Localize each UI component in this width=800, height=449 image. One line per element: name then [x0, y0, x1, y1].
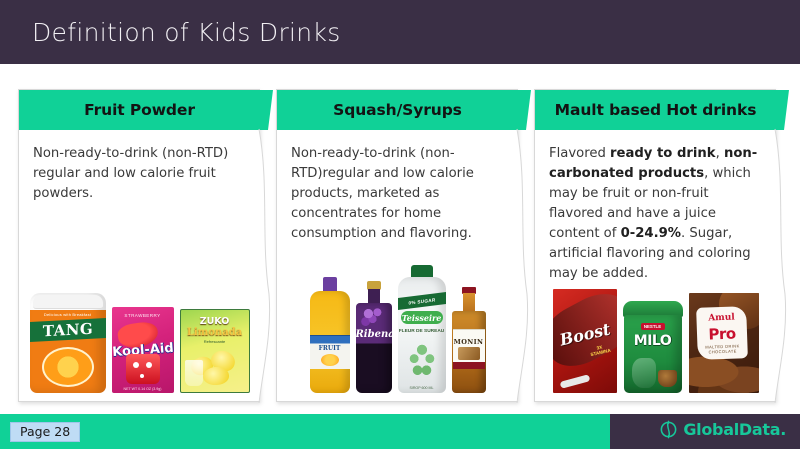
product-amul-pro-carton: Amul Pro MALTED DRINK CHOCOLATE	[689, 293, 759, 393]
teisseire-brand-label: Teisseire	[402, 313, 442, 323]
slide-title-bar: Definition of Kids Drinks	[0, 0, 800, 64]
card-body-malt-hot-drinks: Flavored ready to drink, non-carbonated …	[535, 130, 776, 284]
bottle-neck	[463, 293, 475, 313]
teisseire-brand-badge: Teisseire	[401, 311, 443, 324]
amul-tiny-label: MALTED DRINK CHOCOLATE	[697, 343, 747, 355]
monin-brand-label: MONIN	[453, 338, 485, 346]
card-header-fruit-powder: Fruit Powder	[19, 90, 260, 130]
bottle-body: 0% SUGAR Teisseire FLEUR DE SUREAU SIROP…	[398, 277, 446, 393]
header-fold-icon	[517, 90, 531, 130]
definition-columns: Fruit Powder Non-ready-to-drink (non-RTD…	[0, 64, 800, 411]
milo-brand-label: MILO	[624, 333, 682, 349]
blackcurrant-icon	[360, 307, 388, 329]
slide-root: Definition of Kids Drinks Fruit Powder N…	[0, 0, 800, 449]
definition-card-malt-hot-drinks: Mault based Hot drinks Flavored ready to…	[534, 89, 776, 402]
spoon-icon	[559, 374, 590, 389]
amul-brand-label: Amul	[696, 312, 746, 324]
product-boost-carton: Boost 3X STAMINA	[553, 289, 617, 393]
product-orange-squash-bottle: FRUIT	[310, 277, 350, 393]
card-curl-edge-icon	[517, 89, 531, 404]
card-header-malt-hot-drinks: Mault based Hot drinks	[535, 90, 776, 130]
product-teisseire-syrup-bottle: 0% SUGAR Teisseire FLEUR DE SUREAU SIROP…	[398, 265, 446, 393]
card-text-segment-bold: ready to drink	[610, 146, 716, 161]
product-row-squash-syrups: FRUIT Ribena	[277, 265, 518, 393]
product-tang-powder-tub: Delicious with Breakfast TANG	[30, 293, 106, 393]
milo-cup-icon	[658, 370, 677, 387]
elderflower-icon	[408, 343, 436, 377]
orange-slice-icon	[42, 347, 94, 387]
card-text-segment: ,	[716, 146, 724, 161]
amul-label-panel: Amul Pro MALTED DRINK CHOCOLATE	[696, 306, 748, 360]
koolaid-flavor-label: STRAWBERRY	[112, 313, 174, 318]
tang-brand-band: TANG	[30, 318, 106, 342]
card-curl-edge-icon	[775, 89, 789, 404]
card-curl-edge-icon	[259, 89, 273, 404]
teisseire-sugar-ribbon: 0% SUGAR	[398, 292, 446, 310]
footer-green-bar	[0, 414, 610, 449]
amul-pro-label: Pro	[696, 324, 747, 344]
product-row-malt-hot-drinks: Boost 3X STAMINA NESTLE MILO	[535, 289, 776, 393]
product-row-fruit-powder: Delicious with Breakfast TANG STRAWBERRY…	[19, 293, 260, 393]
koolaid-pitcher-mascot-icon	[126, 354, 160, 384]
athlete-silhouette-icon	[632, 358, 656, 388]
card-text-segment-bold: 0-24.9%	[621, 226, 681, 241]
card-heading-label: Squash/Syrups	[333, 101, 462, 119]
card-body-fruit-powder: Non-ready-to-drink (non-RTD) regular and…	[19, 130, 260, 204]
globaldata-mark-icon	[659, 420, 678, 439]
slide-footer: Page 28 GlobalData.	[0, 414, 800, 449]
globaldata-logo: GlobalData.	[659, 420, 786, 439]
product-monin-syrup-bottle: MONIN	[452, 287, 486, 393]
milo-body: NESTLE MILO	[624, 315, 682, 393]
card-header-squash-syrups: Squash/Syrups	[277, 90, 518, 130]
zuko-tiny-label: Refrescante	[181, 339, 249, 344]
card-text-segment: Non-ready-to-drink (non-RTD)regular and …	[291, 146, 474, 241]
card-heading-label: Mault based Hot drinks	[555, 101, 757, 119]
definition-card-squash-syrups: Squash/Syrups Non-ready-to-drink (non-RT…	[276, 89, 518, 402]
zuko-sub-label: Limonada	[181, 327, 249, 338]
page-title: Definition of Kids Drinks	[32, 18, 341, 47]
tang-brand-label: TANG	[42, 320, 93, 341]
globaldata-wordmark: GlobalData.	[683, 420, 786, 439]
card-heading-label: Fruit Powder	[84, 101, 195, 119]
page-number-box[interactable]: Page 28	[10, 422, 80, 442]
product-kool-aid-packet: STRAWBERRY Kool-Aid NET WT 0.14 OZ (3.9g…	[112, 307, 174, 393]
product-milo-tub: NESTLE MILO	[623, 301, 683, 393]
monin-label-strip	[453, 362, 485, 369]
card-text-segment: Flavored	[549, 146, 610, 161]
product-zuko-limonada-packet: ZUKO Limonada Refrescante	[180, 309, 250, 393]
card-text-segment: Non-ready-to-drink (non-RTD) regular and…	[33, 146, 228, 201]
teisseire-ribbon-label: 0% SUGAR	[408, 297, 435, 305]
glass-icon	[185, 360, 203, 386]
squash-label: FRUIT	[310, 335, 350, 369]
tang-lid	[33, 295, 103, 309]
koolaid-netwt-label: NET WT 0.14 OZ (3.9g)	[112, 387, 174, 391]
teisseire-sub-label: FLEUR DE SUREAU	[398, 329, 446, 336]
zuko-brand-label: ZUKO	[181, 316, 249, 327]
squash-brand-label: FRUIT	[310, 345, 350, 352]
header-fold-icon	[259, 90, 273, 130]
product-ribena-bottle: Ribena	[356, 281, 392, 393]
nestle-badge: NESTLE	[641, 323, 665, 330]
header-fold-icon	[775, 90, 789, 130]
ribena-brand-label: Ribena	[356, 329, 392, 340]
card-body-squash-syrups: Non-ready-to-drink (non-RTD)regular and …	[277, 130, 518, 244]
definition-card-fruit-powder: Fruit Powder Non-ready-to-drink (non-RTD…	[18, 89, 260, 402]
caramel-image-icon	[458, 347, 480, 360]
teisseire-foot-label: SIROP 600 ML	[398, 386, 446, 390]
monin-label: MONIN	[453, 329, 485, 369]
